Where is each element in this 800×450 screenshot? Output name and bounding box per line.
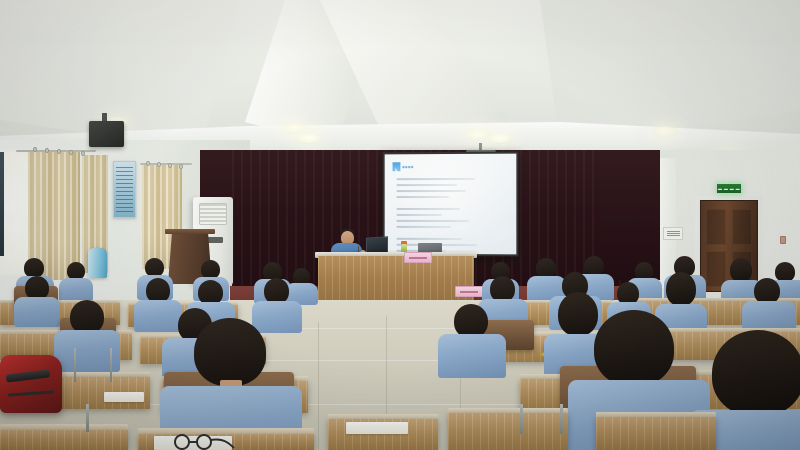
person-shoulders (59, 278, 93, 302)
screen-side-shadow (0, 152, 4, 256)
slide-text-line (396, 184, 456, 186)
person-head (558, 292, 598, 336)
person-head (70, 300, 104, 334)
desk-paper (104, 392, 144, 402)
person-head (194, 318, 266, 386)
wall-sign-line (667, 231, 680, 232)
name-placard (404, 252, 432, 263)
person-shoulders (252, 301, 302, 333)
person-head (775, 262, 795, 282)
curtain-ring (168, 163, 172, 168)
chair-leg (110, 348, 112, 382)
wall-notice-sign (663, 227, 683, 240)
slide-text-line (396, 178, 475, 180)
stage-backdrop-right (600, 150, 660, 280)
slide-logo-text: ■■■■ (402, 165, 414, 169)
slide-text-line (396, 220, 468, 222)
slide-logo: ■■■■ (393, 162, 414, 171)
floor-tile-line (318, 322, 319, 450)
chair-leg (560, 404, 563, 434)
water-cooler (88, 248, 107, 278)
slide-logo-mark-icon (393, 162, 401, 171)
person-shoulders (14, 297, 60, 327)
desk (596, 417, 716, 450)
curtain-ring (33, 147, 37, 152)
slide-text-line (396, 208, 459, 210)
desk (0, 430, 128, 450)
curtain-ring (57, 149, 61, 154)
chair-leg (520, 404, 523, 434)
curtain-ring (45, 148, 49, 153)
ac-grill-icon (199, 203, 227, 225)
desk-paper (346, 422, 408, 434)
ceiling-downlight (281, 123, 307, 134)
ceiling-downlight (296, 133, 322, 144)
slide-line-spacer (396, 232, 506, 234)
person-head (24, 258, 44, 278)
curtain-ring (69, 150, 73, 155)
slide-text-line (396, 238, 462, 240)
chair-leg (86, 404, 89, 432)
wall-sign-line (667, 233, 680, 234)
wall-sign-line (667, 235, 680, 236)
classroom-scene-photo: ▬ ▬ ▬ ▬ ■■■■ (0, 0, 800, 450)
person-head (730, 258, 752, 282)
placard-text (460, 291, 478, 293)
slide-line-spacer (396, 202, 506, 204)
chair-leg (74, 348, 76, 382)
curtain-ring (146, 161, 150, 166)
person-head (666, 272, 696, 306)
ceiling-downlight (652, 126, 678, 137)
person-head (584, 256, 604, 276)
red-backpack (0, 355, 62, 413)
person-shoulders (134, 300, 182, 332)
slide-text-line (396, 190, 466, 192)
person-shoulders (438, 334, 506, 378)
exit-sign: ▬ ▬ ▬ ▬ (716, 183, 742, 194)
person-head (454, 304, 488, 338)
ceiling-downlight (487, 133, 513, 144)
wall-speaker-icon (89, 121, 124, 147)
curtain-ring (179, 164, 183, 169)
placard-text (409, 257, 427, 259)
curtain-ring (157, 162, 161, 167)
person-head (712, 330, 800, 416)
podium-top (165, 229, 215, 234)
person-head (594, 310, 674, 386)
desk (448, 413, 568, 450)
projection-screen: ■■■■ (385, 154, 517, 255)
slide-text-line (396, 226, 451, 228)
eyeglasses-icon (168, 432, 238, 450)
wall-poster (113, 161, 136, 218)
exit-sign-label: ▬ ▬ ▬ ▬ (718, 187, 740, 191)
slide-text-block (396, 178, 506, 255)
name-placard (455, 286, 483, 297)
person-head (536, 258, 556, 278)
slide-text-line (396, 196, 448, 198)
door-panel (732, 209, 752, 245)
door-panel (706, 209, 726, 245)
slide-text-line (396, 214, 442, 216)
curtain-ring (81, 151, 85, 156)
poster-text-lines (116, 167, 133, 214)
wall-switch[interactable] (780, 236, 786, 244)
